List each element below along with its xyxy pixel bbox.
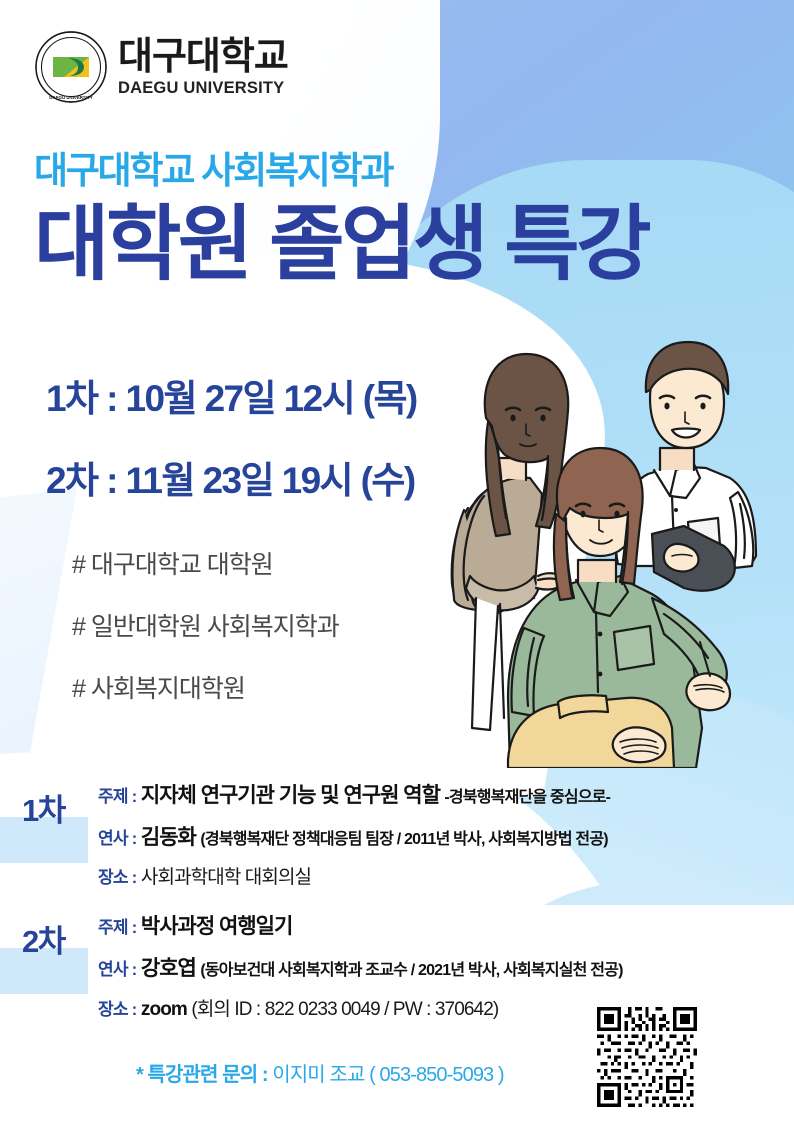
- date-line-1: 1차 : 10월 27일 12시 (목): [46, 368, 417, 422]
- session-1-tag: 1차: [22, 785, 65, 830]
- logo-name-en: DAEGU UNIVERSITY: [118, 80, 288, 97]
- logo-wordmark: 대구대학교 DAEGU UNIVERSITY: [118, 38, 288, 97]
- svg-text:DAEGU UNIVERSITY: DAEGU UNIVERSITY: [49, 95, 92, 100]
- poster-canvas: · · · · DAEGU UNIVERSITY 대구대학교 DAEGU UNI…: [0, 0, 794, 1123]
- session-2-topic-main: 박사과정 여행일기: [141, 915, 292, 938]
- session-2-speaker-name: 강호엽: [141, 957, 196, 980]
- session-1-speaker-label: 연사 :: [98, 829, 136, 848]
- session-1-place-label: 장소 :: [98, 868, 136, 887]
- contact-line: * 특강관련 문의 : 이지미 조교 ( 053-850-5093 ): [136, 1058, 504, 1087]
- session-2-speaker-label: 연사 :: [98, 960, 136, 979]
- session-2-tag: 2차: [22, 916, 65, 961]
- session-1-speaker-detail: (경북행복재단 정책대응팀 팀장 / 2011년 박사, 사회복지방법 전공): [200, 831, 607, 848]
- session-2-place-value: (회의 ID : 822 0233 0049 / PW : 370642): [191, 999, 498, 1020]
- session-2-place-platform: zoom: [141, 999, 187, 1020]
- session-1-place-row: 장소 : 사회과학대학 대회의실: [98, 868, 311, 887]
- qr-code[interactable]: [597, 1007, 697, 1107]
- daegu-university-seal-icon: · · · · DAEGU UNIVERSITY: [34, 30, 108, 104]
- contact-label: * 특강관련 문의 :: [136, 1064, 268, 1086]
- logo-name-kr: 대구대학교: [118, 38, 288, 76]
- session-1-topic-label: 주제 :: [98, 787, 136, 806]
- contact-value: 이지미 조교 ( 053-850-5093 ): [272, 1064, 503, 1086]
- session-1-speaker-row: 연사 : 김동화 (경북행복재단 정책대응팀 팀장 / 2011년 박사, 사회…: [98, 827, 608, 848]
- svg-text:· · · ·: · · · ·: [66, 35, 76, 40]
- session-1-speaker-name: 김동화: [141, 826, 196, 849]
- session-2-place-label: 장소 :: [98, 1000, 136, 1019]
- students-illustration: [438, 298, 794, 768]
- university-logo: · · · · DAEGU UNIVERSITY 대구대학교 DAEGU UNI…: [30, 26, 298, 108]
- session-2-speaker-detail: (동아보건대 사회복지학과 조교수 / 2021년 박사, 사회복지실천 전공): [200, 962, 622, 979]
- session-2-place-row: 장소 : zoom (회의 ID : 822 0233 0049 / PW : …: [98, 1000, 498, 1019]
- session-1-topic-main: 지자체 연구기관 기능 및 연구원 역할: [141, 784, 440, 807]
- session-2-topic-row: 주제 : 박사과정 여행일기: [98, 916, 292, 937]
- hashtag-2: # 일반대학원 사회복지학과: [72, 607, 339, 643]
- date-line-2: 2차 : 11월 23일 19시 (수): [46, 450, 415, 504]
- hashtag-1: # 대구대학교 대학원: [72, 545, 273, 581]
- session-2-speaker-row: 연사 : 강호엽 (동아보건대 사회복지학과 조교수 / 2021년 박사, 사…: [98, 958, 623, 979]
- poster-subtitle: 대구대학교 사회복지학과: [34, 140, 392, 194]
- session-2-topic-label: 주제 :: [98, 918, 136, 937]
- session-1-place-value: 사회과학대학 대회의실: [141, 867, 311, 888]
- poster-title: 대학원 졸업생 특강: [34, 200, 648, 290]
- session-1-topic-sub: -경북행복재단을 중심으로-: [444, 789, 610, 806]
- hashtag-3: # 사회복지대학원: [72, 669, 245, 705]
- session-1-topic-row: 주제 : 지자체 연구기관 기능 및 연구원 역할 -경북행복재단을 중심으로-: [98, 785, 610, 806]
